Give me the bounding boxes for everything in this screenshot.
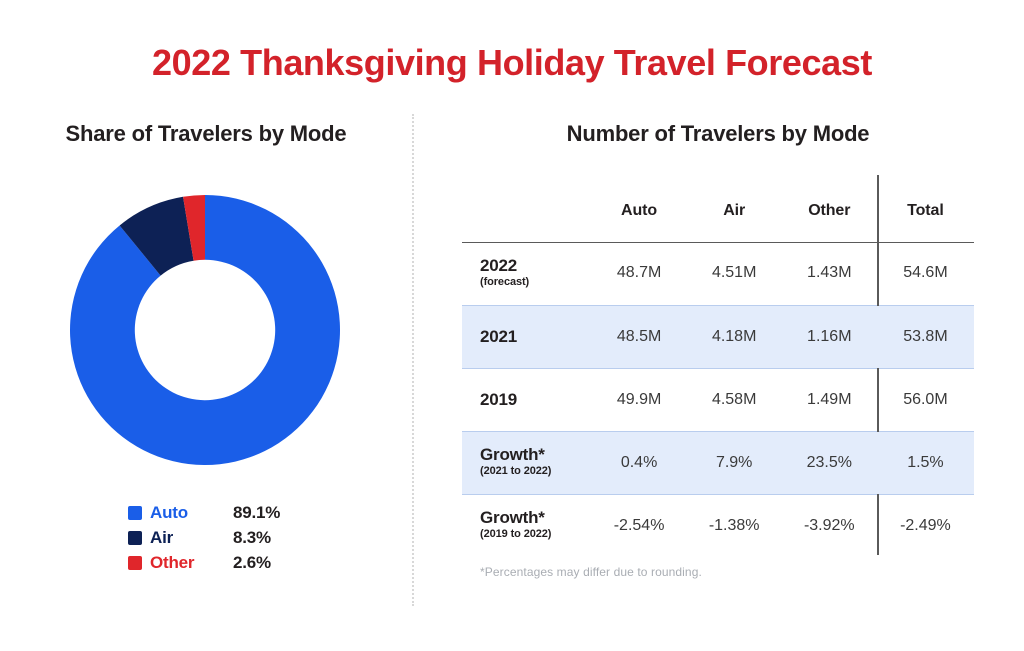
number-of-travelers-panel: Number of Travelers by Mode Auto Air Oth… bbox=[412, 0, 1024, 651]
row-label-3: Growth*(2021 to 2022) bbox=[462, 431, 592, 494]
legend-label-other: Other bbox=[150, 550, 194, 575]
table-body: 2022(forecast)48.7M4.51M1.43M54.6M202148… bbox=[462, 242, 974, 557]
legend-value-auto: 89.1% bbox=[233, 500, 280, 525]
chart-legend: Auto 89.1% Air 8.3% Other 2.6% bbox=[128, 500, 328, 575]
cell-other-0: 1.43M bbox=[782, 242, 877, 305]
cell-total-1: 53.8M bbox=[877, 305, 974, 368]
row-label-0: 2022(forecast) bbox=[462, 242, 592, 305]
legend-label-air: Air bbox=[150, 525, 173, 550]
legend-item-auto: Auto 89.1% bbox=[128, 500, 328, 525]
row-label-main: Growth* bbox=[480, 509, 592, 527]
cell-air-4: -1.38% bbox=[687, 494, 782, 557]
cell-auto-2: 49.9M bbox=[592, 368, 687, 431]
donut-chart bbox=[70, 195, 340, 465]
cell-total-0: 54.6M bbox=[877, 242, 974, 305]
share-panel-title: Share of Travelers by Mode bbox=[0, 121, 412, 147]
travelers-table: Auto Air Other Total 2022(forecast)48.7M… bbox=[462, 180, 974, 557]
column-header-total: Total bbox=[877, 180, 974, 242]
table-row: 2022(forecast)48.7M4.51M1.43M54.6M bbox=[462, 242, 974, 305]
cell-other-3: 23.5% bbox=[782, 431, 877, 494]
legend-swatch-air bbox=[128, 531, 142, 545]
table-row: Growth*(2019 to 2022)-2.54%-1.38%-3.92%-… bbox=[462, 494, 974, 557]
table-head: Auto Air Other Total bbox=[462, 180, 974, 242]
donut-chart-svg bbox=[70, 195, 340, 465]
row-label-sub: (2021 to 2022) bbox=[480, 464, 592, 479]
travelers-table-wrap: Auto Air Other Total 2022(forecast)48.7M… bbox=[462, 180, 974, 557]
cell-air-1: 4.18M bbox=[687, 305, 782, 368]
legend-swatch-auto bbox=[128, 506, 142, 520]
table-row: 202148.5M4.18M1.16M53.8M bbox=[462, 305, 974, 368]
column-header-other: Other bbox=[782, 180, 877, 242]
table-row: Growth*(2021 to 2022)0.4%7.9%23.5%1.5% bbox=[462, 431, 974, 494]
cell-total-3: 1.5% bbox=[877, 431, 974, 494]
legend-label-auto: Auto bbox=[150, 500, 188, 525]
row-label-sub: (2019 to 2022) bbox=[480, 527, 592, 542]
cell-auto-0: 48.7M bbox=[592, 242, 687, 305]
row-label-main: 2021 bbox=[480, 328, 592, 346]
cell-air-3: 7.9% bbox=[687, 431, 782, 494]
cell-other-2: 1.49M bbox=[782, 368, 877, 431]
table-footnote: *Percentages may differ due to rounding. bbox=[480, 565, 702, 579]
column-header-blank bbox=[462, 180, 592, 242]
column-header-auto: Auto bbox=[592, 180, 687, 242]
cell-other-4: -3.92% bbox=[782, 494, 877, 557]
share-of-travelers-panel: Share of Travelers by Mode Auto 89.1% Ai… bbox=[0, 0, 412, 651]
cell-total-2: 56.0M bbox=[877, 368, 974, 431]
cell-air-0: 4.51M bbox=[687, 242, 782, 305]
legend-value-other: 2.6% bbox=[233, 550, 271, 575]
cell-auto-4: -2.54% bbox=[592, 494, 687, 557]
row-label-2: 2019 bbox=[462, 368, 592, 431]
cell-auto-1: 48.5M bbox=[592, 305, 687, 368]
cell-air-2: 4.58M bbox=[687, 368, 782, 431]
row-label-main: 2019 bbox=[480, 391, 592, 409]
column-header-air: Air bbox=[687, 180, 782, 242]
legend-item-air: Air 8.3% bbox=[128, 525, 328, 550]
row-label-1: 2021 bbox=[462, 305, 592, 368]
legend-item-other: Other 2.6% bbox=[128, 550, 328, 575]
cell-other-1: 1.16M bbox=[782, 305, 877, 368]
table-panel-title: Number of Travelers by Mode bbox=[412, 121, 1024, 147]
cell-total-4: -2.49% bbox=[877, 494, 974, 557]
row-label-main: 2022 bbox=[480, 257, 592, 275]
row-label-sub: (forecast) bbox=[480, 275, 592, 290]
row-label-main: Growth* bbox=[480, 446, 592, 464]
legend-swatch-other bbox=[128, 556, 142, 570]
row-label-4: Growth*(2019 to 2022) bbox=[462, 494, 592, 557]
table-row: 201949.9M4.58M1.49M56.0M bbox=[462, 368, 974, 431]
table-header-row: Auto Air Other Total bbox=[462, 180, 974, 242]
legend-value-air: 8.3% bbox=[233, 525, 271, 550]
cell-auto-3: 0.4% bbox=[592, 431, 687, 494]
